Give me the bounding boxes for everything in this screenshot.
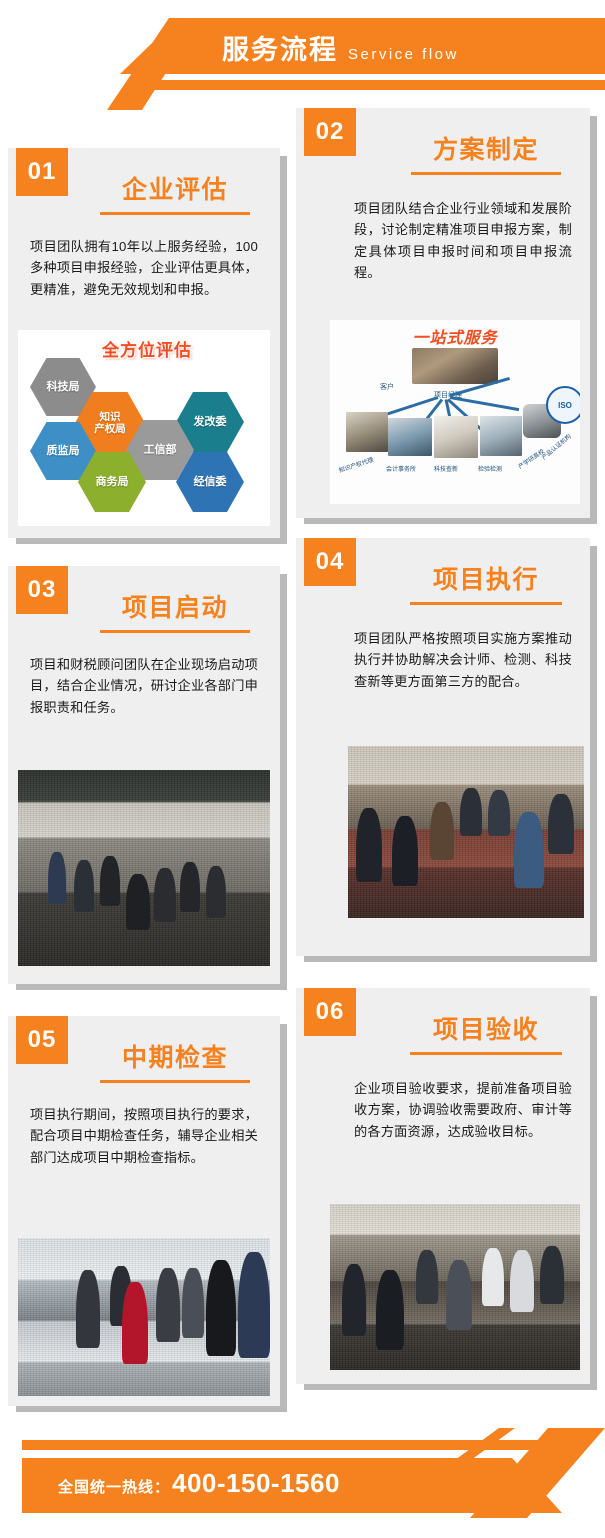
card-title-block-06: 项目验收 xyxy=(396,1010,576,1055)
service-thumb-0 xyxy=(346,412,388,452)
process-step-card-03[interactable]: 03 项目启动 项目和财税顾问团队在企业现场启动项目，结合企业情况，研讨企业各部… xyxy=(8,566,280,984)
title-underline xyxy=(100,212,250,215)
hex-node-label-6: 经信委 xyxy=(194,476,227,489)
title-underline xyxy=(410,602,562,605)
card-description-04: 项目团队严格按照项目实施方案推动执行并协助解决会计师、检测、科技查新等更方面第三… xyxy=(354,628,572,692)
card-title-block-02: 方案制定 xyxy=(396,130,576,175)
process-step-card-02[interactable]: 02 方案制定 项目团队结合企业行业领域和发展阶段，讨论制定精准项目申报方案，制… xyxy=(296,108,590,518)
conference-photo xyxy=(330,1204,580,1370)
card-title-block-04: 项目执行 xyxy=(396,560,576,605)
process-step-card-06[interactable]: 06 项目验收 企业项目验收要求，提前准备项目验收方案，协调验收需要政府、审计等… xyxy=(296,988,590,1384)
service-thumb-1 xyxy=(388,418,432,456)
hex-node-label-2: 发改委 xyxy=(194,416,227,429)
card-title-block-01: 企业评估 xyxy=(80,170,270,215)
title-underline xyxy=(100,630,250,633)
service-label-1: 会计事务所 xyxy=(386,464,416,473)
card-shadow-bottom xyxy=(304,956,597,962)
title-underline xyxy=(411,172,561,175)
card-shadow-bottom xyxy=(16,1406,287,1412)
step-number-badge-04: 04 xyxy=(304,538,356,586)
card-title-02: 方案制定 xyxy=(396,130,576,166)
step-number-badge-05: 05 xyxy=(16,1016,68,1064)
iso-seal-icon: ISO xyxy=(546,386,580,424)
working-session-photo xyxy=(348,746,584,918)
page-footer: 全国统一热线： 400-150-1560 xyxy=(0,1428,605,1538)
step-number-badge-01: 01 xyxy=(16,148,68,196)
title-underline xyxy=(410,1052,562,1055)
hex-diagram-title: 全方位评估 xyxy=(102,336,192,361)
step-number-badge-02: 02 xyxy=(304,108,356,156)
step-number-badge-06: 06 xyxy=(304,988,356,1036)
hex-node-label-5: 商务局 xyxy=(96,476,129,489)
process-steps-grid: 01 企业评估 项目团队拥有10年以上服务经验，100多种项目申报经验，企业评估… xyxy=(0,0,605,1538)
hex-node-label-1: 知识 产权局 xyxy=(94,411,126,435)
meeting-room-photo xyxy=(18,770,270,966)
one-stop-title: 一站式服务 xyxy=(330,324,580,348)
hex-node-label-4: 工信部 xyxy=(144,444,177,457)
hotline-number[interactable]: 400-150-1560 xyxy=(172,1468,340,1499)
service-label-3: 检验检测 xyxy=(478,464,502,473)
card-shadow xyxy=(280,574,287,984)
showroom-visit-photo xyxy=(18,1238,270,1396)
card-shadow-bottom xyxy=(304,1384,597,1390)
card-shadow xyxy=(590,116,597,518)
hex-node-label-3: 质监局 xyxy=(47,445,80,458)
card-shadow-bottom xyxy=(16,984,287,990)
card-description-05: 项目执行期间，按照项目执行的要求，配合项目中期检查任务，辅导企业相关部门达成项目… xyxy=(30,1104,258,1168)
card-shadow xyxy=(280,1024,287,1406)
card-shadow-bottom xyxy=(16,538,287,544)
step-number-badge-03: 03 xyxy=(16,566,68,614)
card-description-02: 项目团队结合企业行业领域和发展阶段，讨论制定精准项目申报方案，制定具体项目申报时… xyxy=(354,198,572,284)
card-description-01: 项目团队拥有10年以上服务经验，100多种项目申报经验，企业评估更具体，更精准，… xyxy=(30,236,258,300)
service-label-2: 科技查新 xyxy=(434,464,458,473)
card-title-block-05: 中期检查 xyxy=(80,1038,270,1083)
card-title-04: 项目执行 xyxy=(396,560,576,596)
service-label-0: 知识产权代理 xyxy=(337,455,374,475)
card-shadow-bottom xyxy=(304,518,597,524)
card-title-03: 项目启动 xyxy=(80,588,270,624)
hex-diagram: 全方位评估 科技局 知识 产权局 发改委 质监局 工信部 商务局 经信委 xyxy=(18,330,270,526)
hotline-group: 全国统一热线： 400-150-1560 xyxy=(58,1468,340,1499)
process-step-card-05[interactable]: 05 中期检查 项目执行期间，按照项目执行的要求，配合项目中期检查任务，辅导企业… xyxy=(8,1016,280,1406)
card-shadow xyxy=(590,546,597,956)
card-title-01: 企业评估 xyxy=(80,170,270,206)
card-description-03: 项目和财税顾问团队在企业现场启动项目，结合企业情况，研讨企业各部门申报职责和任务… xyxy=(30,654,258,718)
service-thumb-3 xyxy=(480,416,522,456)
card-title-06: 项目验收 xyxy=(396,1010,576,1046)
card-description-06: 企业项目验收要求，提前准备项目验收方案，协调验收需要政府、审计等的各方面资源，达… xyxy=(354,1078,572,1142)
card-shadow xyxy=(590,996,597,1384)
process-step-card-04[interactable]: 04 项目执行 项目团队严格按照项目实施方案推动执行并协助解决会计师、检测、科技… xyxy=(296,538,590,956)
team-photo-thumb xyxy=(412,348,498,384)
title-underline xyxy=(100,1080,250,1083)
one-stop-service-diagram: 一站式服务 客户 项目经理 ISO 知识产权代理 会计事务所 科技查新 检验检测… xyxy=(330,320,580,504)
hotline-label: 全国统一热线： xyxy=(58,1476,170,1497)
card-title-05: 中期检查 xyxy=(80,1038,270,1074)
card-shadow xyxy=(280,156,287,538)
one-stop-client-node: 客户 xyxy=(380,382,394,392)
hex-node-label-0: 科技局 xyxy=(47,381,80,394)
process-step-card-01[interactable]: 01 企业评估 项目团队拥有10年以上服务经验，100多种项目申报经验，企业评估… xyxy=(8,148,280,538)
service-thumb-2 xyxy=(434,416,478,458)
card-title-block-03: 项目启动 xyxy=(80,588,270,633)
